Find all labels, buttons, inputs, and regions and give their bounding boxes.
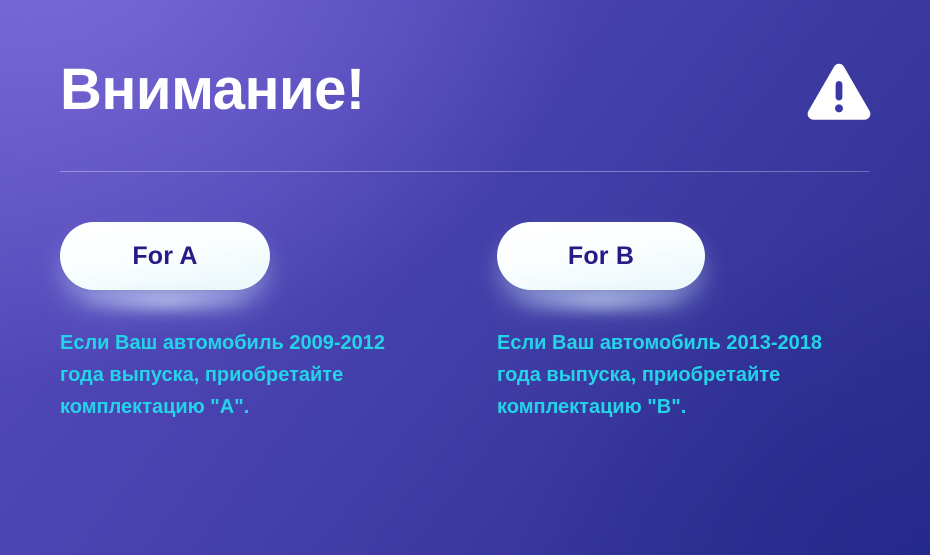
- option-a-line-2: года выпуска, приобретайте: [60, 359, 440, 391]
- attention-banner: Внимание! For A Если Ваш автомобиль 2009…: [0, 0, 930, 555]
- option-a-line-1: Если Ваш автомобиль 2009-2012: [60, 327, 440, 359]
- banner-header: Внимание!: [60, 52, 872, 142]
- option-b-line-3: комплектацию "B".: [497, 391, 877, 423]
- option-b-line-1: Если Ваш автомобиль 2013-2018: [497, 327, 877, 359]
- warning-triangle-icon: [806, 62, 872, 124]
- for-a-button[interactable]: For A: [60, 222, 270, 290]
- for-b-button[interactable]: For B: [497, 222, 705, 290]
- option-a-column: For A Если Ваш автомобиль 2009-2012 года…: [60, 222, 460, 423]
- option-a-description: Если Ваш автомобиль 2009-2012 года выпус…: [60, 290, 440, 423]
- option-b-line-2: года выпуска, приобретайте: [497, 359, 877, 391]
- option-b-description: Если Ваш автомобиль 2013-2018 года выпус…: [497, 290, 877, 423]
- option-a-line-3: комплектацию "A".: [60, 391, 440, 423]
- page-title: Внимание!: [60, 52, 365, 128]
- option-b-column: For B Если Ваш автомобиль 2013-2018 года…: [497, 222, 897, 423]
- header-divider: [60, 171, 870, 172]
